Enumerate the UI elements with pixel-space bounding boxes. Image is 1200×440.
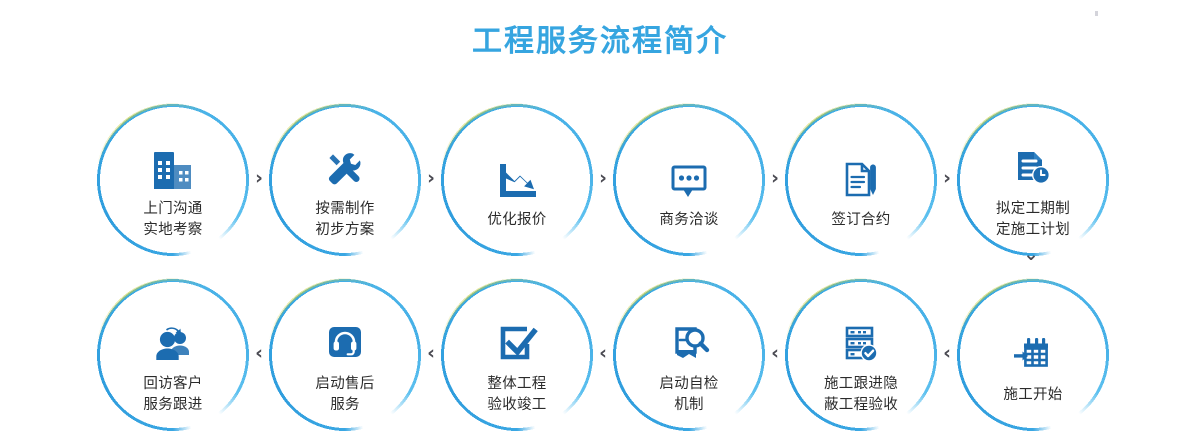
document-magnifier-icon — [664, 320, 714, 368]
flow-node-label: 拟定工期制 定施工计划 — [996, 199, 1070, 241]
chevron-left-icon: ‹ — [771, 344, 779, 363]
connector-forward-3: › — [594, 103, 612, 257]
flow-node-label: 上门沟通 实地考察 — [143, 199, 202, 241]
chevron-right-icon: › — [943, 169, 951, 188]
connector-forward-2: › — [422, 103, 440, 257]
connector-backward-4: ‹ — [766, 278, 784, 432]
flow-node-proposal[interactable]: 按需制作 初步方案 — [268, 103, 422, 257]
buildings-icon — [148, 145, 198, 193]
chevron-down-icon: ⌄ — [1023, 246, 1038, 264]
flow-row-bottom: 回访客户 服务跟进 ‹ 启动售后 服务 — [0, 270, 1200, 440]
connector-backward-2: ‹ — [422, 278, 440, 432]
chart-down-arrow-icon — [492, 156, 542, 204]
checkbox-check-icon — [492, 320, 542, 368]
flow-node-label: 按需制作 初步方案 — [315, 199, 374, 241]
flow-node-after-sales[interactable]: 启动售后 服务 — [268, 278, 422, 432]
connector-backward-1: ‹ — [250, 278, 268, 432]
headset-support-icon — [320, 320, 370, 368]
connector-backward-3: ‹ — [594, 278, 612, 432]
flow-node-construction-tracking[interactable]: 施工跟进隐 蔽工程验收 — [784, 278, 938, 432]
flow-node-self-inspection[interactable]: 启动自检 机制 — [612, 278, 766, 432]
page-title: 工程服务流程简介 — [0, 22, 1200, 62]
flow-node-schedule-plan[interactable]: 拟定工期制 定施工计划 — [956, 103, 1110, 257]
chevron-right-icon: › — [771, 169, 779, 188]
chevron-left-icon: ‹ — [255, 344, 263, 363]
flow-node-construction-start[interactable]: 施工开始 — [956, 278, 1110, 432]
flow-node-label: 回访客户 服务跟进 — [143, 374, 202, 416]
flow-node-final-acceptance[interactable]: 整体工程 验收竣工 — [440, 278, 594, 432]
flow-node-business-negotiation[interactable]: 商务洽谈 — [612, 103, 766, 257]
chevron-left-icon: ‹ — [943, 344, 951, 363]
connector-backward-5: ‹ — [938, 278, 956, 432]
flow-row-top: 上门沟通 实地考察 › 按需制作 初步方 — [0, 95, 1200, 265]
flow-node-optimize-quote[interactable]: 优化报价 — [440, 103, 594, 257]
chevron-right-icon: › — [427, 169, 435, 188]
connector-forward-4: › — [766, 103, 784, 257]
chevron-right-icon: › — [255, 169, 263, 188]
process-flow-infographic: 工程服务流程简介 — [0, 0, 1200, 440]
flow-node-label: 启动售后 服务 — [315, 374, 374, 416]
connector-forward-5: › — [938, 103, 956, 257]
image-artifact-speck — [1095, 11, 1098, 16]
flow-node-label: 施工跟进隐 蔽工程验收 — [824, 374, 898, 416]
connector-forward-1: › — [250, 103, 268, 257]
flow-node-label: 优化报价 — [487, 210, 546, 231]
document-clock-icon — [1008, 145, 1058, 193]
flow-node-label: 签订合约 — [831, 210, 890, 231]
flow-node-customer-followup[interactable]: 回访客户 服务跟进 — [96, 278, 250, 432]
chevron-left-icon: ‹ — [599, 344, 607, 363]
flow-node-label: 整体工程 验收竣工 — [487, 374, 546, 416]
connector-down: ⌄ — [1019, 243, 1043, 267]
speech-bubble-icon — [664, 156, 714, 204]
flow-node-label: 启动自检 机制 — [659, 374, 718, 416]
flow-node-label: 商务洽谈 — [659, 210, 718, 231]
server-checkmark-icon — [836, 320, 886, 368]
chevron-left-icon: ‹ — [427, 344, 435, 363]
document-pen-icon — [836, 156, 886, 204]
chevron-right-icon: › — [599, 169, 607, 188]
flow-node-site-visit[interactable]: 上门沟通 实地考察 — [96, 103, 250, 257]
tools-wrench-screwdriver-icon — [320, 145, 370, 193]
calendar-arrow-icon — [1008, 331, 1058, 379]
users-group-icon — [148, 320, 198, 368]
flow-node-sign-contract[interactable]: 签订合约 — [784, 103, 938, 257]
flow-node-label: 施工开始 — [1003, 385, 1062, 406]
